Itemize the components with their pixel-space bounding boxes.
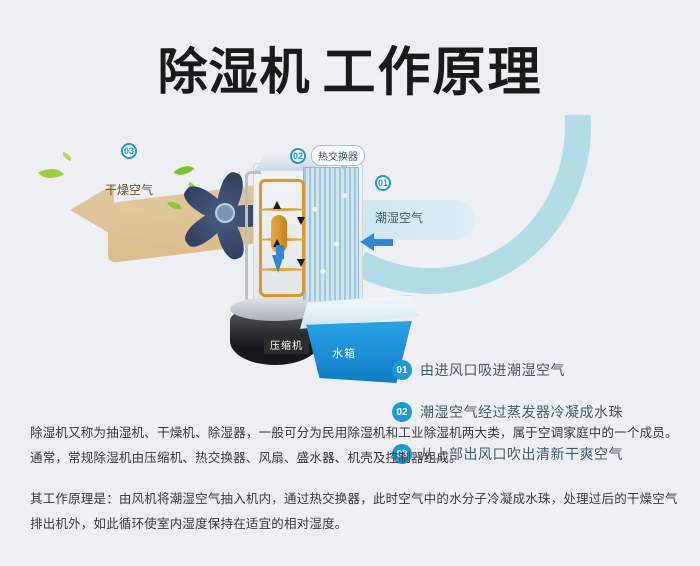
heat-exchanger-fins <box>303 167 359 307</box>
callout-badge-01: 01 <box>375 175 391 191</box>
fan-hub <box>215 203 235 223</box>
legend-text-02: 潮湿空气经过蒸发器冷凝成水珠 <box>420 402 623 422</box>
infographic-page: 除湿机工作原理 <box>0 0 700 566</box>
page-title-part2: 工作原理 <box>323 44 543 102</box>
legend-row: 02 潮湿空气经过蒸发器冷凝成水珠 <box>392 402 692 422</box>
legend-row: 01 由进风口吸进潮湿空气 <box>392 360 692 380</box>
callout-label-humid-air: 潮湿空气 <box>375 209 423 226</box>
leaf-icon <box>61 152 72 161</box>
air-intake-arrow <box>360 233 374 251</box>
callout-01-humid-air: 01 潮湿空气 <box>375 175 423 226</box>
page-title-part1: 除湿机 <box>158 43 311 101</box>
paragraph-2-line-1: 其工作原理是：由风机将潮湿空气抽入机内，通过热交换器，此时空气中的水分子冷凝成水… <box>30 486 680 511</box>
callout-label-heat-exchanger: 热交换器 <box>311 145 365 166</box>
page-title: 除湿机工作原理 <box>0 30 700 106</box>
description-text: 除湿机又称为抽湿机、干燥机、除湿器，一般可分为民用除湿机和工业除湿机两大类，属于… <box>30 420 680 536</box>
paragraph-1-line-2: 通常，常规除湿机由压缩机、热交换器、风扇、盛水器、机壳及控制器组成。 <box>30 445 680 470</box>
callout-label-dry-air: 干燥空气 <box>105 181 153 198</box>
legend-text-01: 由进风口吸进潮湿空气 <box>420 360 565 380</box>
callout-02-heat-exchanger: 02 热交换器 <box>290 145 365 166</box>
dehumidifier-diagram: 压缩机 水箱 03 干燥空气 02 热交换器 01 潮湿空气 01 由进风口吸进… <box>0 105 700 400</box>
paragraph-1-line-1: 除湿机又称为抽湿机、干燥机、除湿器，一般可分为民用除湿机和工业除湿机两大类，属于… <box>30 420 680 445</box>
legend-badge-02: 02 <box>392 402 412 422</box>
callout-badge-02: 02 <box>290 148 306 164</box>
air-intake-arrow-tail <box>373 239 393 246</box>
leaf-icon <box>38 163 63 184</box>
paragraph-2-line-2: 排出机外，如此循环使室内湿度保持在适宜的相对湿度。 <box>30 511 680 536</box>
water-tank-label: 水箱 <box>332 345 356 361</box>
callout-badge-03: 03 <box>121 143 137 159</box>
callout-03-dry-air: 03 干燥空气 <box>105 143 153 198</box>
condensate-arrow <box>272 255 284 273</box>
legend-badge-01: 01 <box>392 360 412 380</box>
